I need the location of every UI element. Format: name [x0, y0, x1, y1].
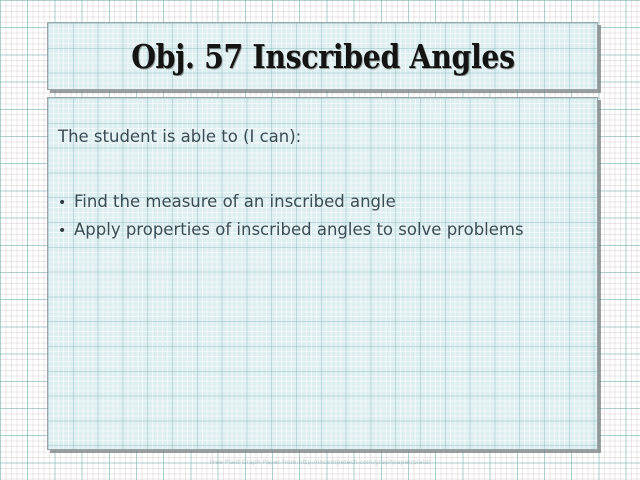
footer-attribution: Free Plaid Graph Paper from http://incom…	[0, 459, 640, 466]
slide-title: Obj. 57 Inscribed Angles	[131, 40, 515, 73]
body-panel: The student is able to (I can): • Find t…	[47, 97, 598, 450]
objectives-list: • Find the measure of an inscribed angle…	[58, 192, 524, 248]
bullet-dot-icon: •	[58, 224, 74, 238]
title-panel: Obj. 57 Inscribed Angles	[47, 22, 598, 90]
list-item: • Apply properties of inscribed angles t…	[58, 220, 524, 239]
list-item-label: Find the measure of an inscribed angle	[74, 192, 396, 211]
slide-canvas: Obj. 57 Inscribed Angles The student is …	[0, 0, 640, 480]
bullet-dot-icon: •	[58, 196, 74, 210]
list-item: • Find the measure of an inscribed angle	[58, 192, 524, 211]
objective-intro-text: The student is able to (I can):	[58, 127, 301, 146]
list-item-label: Apply properties of inscribed angles to …	[74, 220, 524, 239]
